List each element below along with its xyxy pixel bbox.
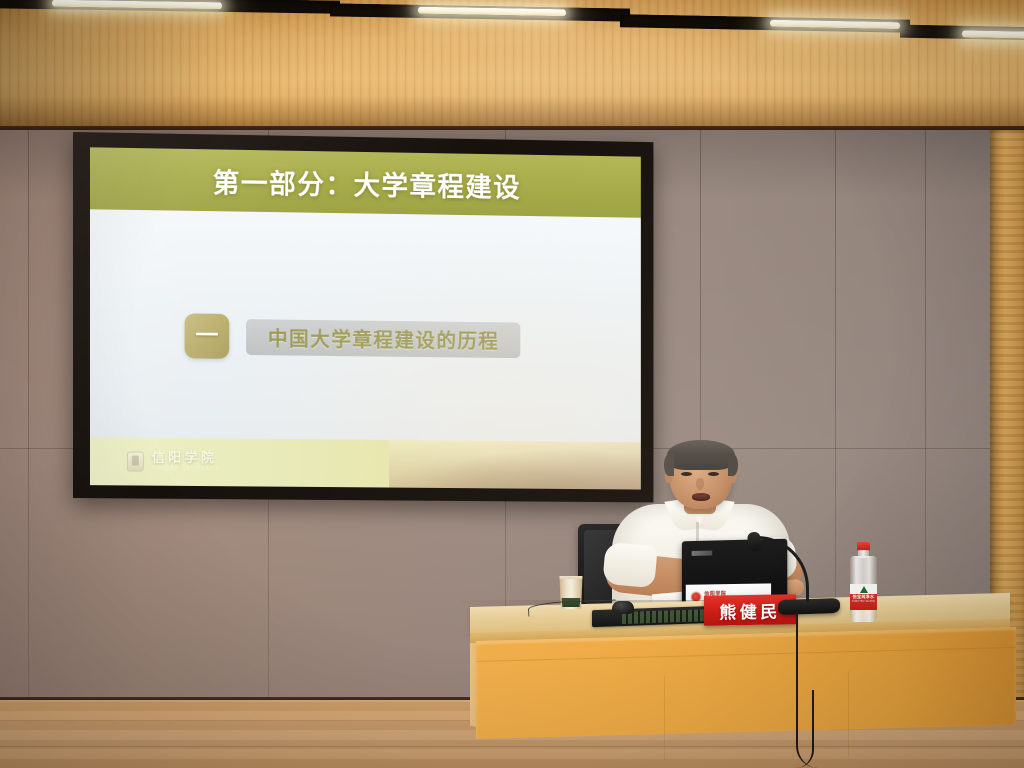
slide-footer: 信阳学院 XINYANG UNIVERSITY (90, 437, 641, 489)
bottle-label-en: PURIFIED WATER (852, 600, 875, 603)
laptop-brand-logo-icon (692, 551, 713, 556)
slide-item-label: 中国大学章程建设的历程 (268, 322, 499, 354)
institution-mark-icon (128, 452, 143, 470)
speaker-eye-left (681, 472, 692, 476)
ceiling-light-strip (962, 30, 1024, 38)
slide-item-number-badge: 一 (185, 313, 230, 358)
speaker-mouth (692, 493, 710, 501)
microphone-cable (796, 690, 814, 768)
presentation-slide: 第一部分：大学章程建设 一 中国大学章程建设的历程 (90, 147, 641, 489)
institution-name: 信阳学院 XINYANG UNIVERSITY (152, 452, 220, 472)
slide-title-bar: 第一部分：大学章程建设 (90, 147, 641, 217)
speaker-hair (667, 440, 735, 470)
slide-item-number: 一 (196, 325, 219, 348)
speaker-eye-right (708, 472, 719, 476)
floor-seam (0, 746, 1024, 747)
projection-screen: 第一部分：大学章程建设 一 中国大学章程建设的历程 (73, 132, 653, 502)
speaker-left-sleeve (602, 542, 657, 588)
desk-front-panel (476, 627, 1016, 739)
lecture-hall-scene: 第一部分：大学章程建设 一 中国大学章程建设的历程 (0, 0, 1024, 768)
slide-title: 第一部分：大学章程建设 (213, 161, 521, 205)
water-bottle[interactable]: 怡宝纯净水 PURIFIED WATER (849, 542, 878, 622)
speaker-nose (696, 478, 704, 490)
ceiling (0, 0, 1024, 132)
podium-desk (470, 607, 1010, 732)
slide-body: 一 中国大学章程建设的历程 (90, 209, 641, 442)
wall-seam (28, 130, 29, 710)
institution-logo: 信阳学院 XINYANG UNIVERSITY (128, 452, 220, 472)
mouse[interactable] (612, 601, 634, 614)
desk-panel-seam (848, 671, 849, 756)
institution-name-en: XINYANG UNIVERSITY (152, 467, 220, 472)
desk-panel-seam (664, 676, 665, 761)
tree-icon (860, 586, 868, 593)
projection-screen-surface: 第一部分：大学章程建设 一 中国大学章程建设的历程 (90, 147, 641, 489)
bottle-label: 怡宝纯净水 PURIFIED WATER (850, 584, 877, 610)
slide-item-pill: 中国大学章程建设的历程 (246, 319, 521, 358)
slide-list-item: 一 中国大学章程建设的历程 (185, 313, 521, 362)
institution-name-cn: 信阳学院 (152, 452, 220, 466)
